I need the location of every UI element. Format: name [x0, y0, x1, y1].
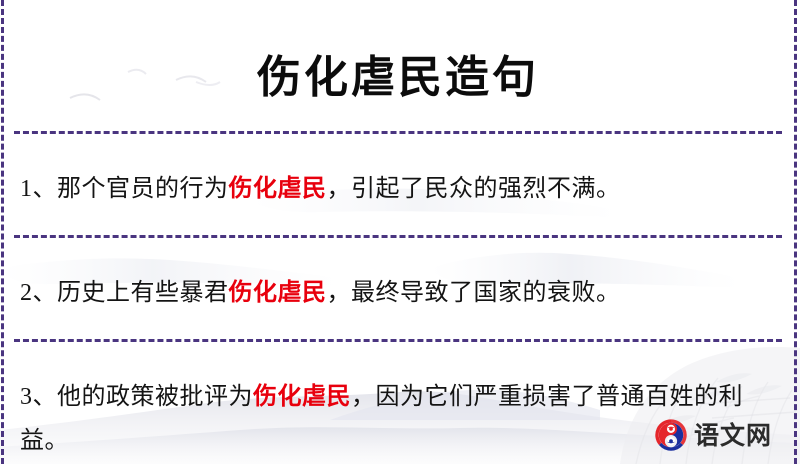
sentence-1-after: ，引起了民众的强烈不满。 — [327, 176, 621, 202]
sentence-3-before: 3、他的政策被批评为 — [20, 384, 253, 410]
sentence-1-idiom: 伤化虐民 — [229, 176, 327, 202]
sentence-2-before: 2、历史上有些暴君 — [20, 280, 229, 306]
worksheet-page: 伤化虐民造句 1、那个官员的行为伤化虐民，引起了民众的强烈不满。 2、历史上有些… — [0, 0, 800, 464]
example-sentence-1: 1、那个官员的行为伤化虐民，引起了民众的强烈不满。 — [14, 158, 782, 211]
sentence-1-before: 1、那个官员的行为 — [20, 176, 229, 202]
sentence-3-idiom: 伤化虐民 — [253, 384, 351, 410]
divider-rule-2 — [14, 235, 782, 238]
worksheet-content: 伤化虐民造句 1、那个官员的行为伤化虐民，引起了民众的强烈不满。 2、历史上有些… — [0, 29, 800, 464]
example-sentence-2: 2、历史上有些暴君伤化虐民，最终导致了国家的衰败。 — [14, 262, 782, 315]
site-logo-text: 语文网 — [694, 423, 772, 448]
sentence-2-idiom: 伤化虐民 — [229, 280, 327, 306]
page-title: 伤化虐民造句 — [14, 29, 782, 100]
sentence-2-after: ，最终导致了国家的衰败。 — [327, 280, 621, 306]
divider-rule-3 — [14, 339, 782, 342]
right-dashed-border — [794, 0, 797, 464]
divider-rule-1 — [14, 131, 782, 134]
site-logo[interactable]: 语文网 — [654, 418, 772, 452]
left-dashed-border — [1, 0, 4, 464]
yinyang-fish-logo-icon — [654, 418, 688, 452]
